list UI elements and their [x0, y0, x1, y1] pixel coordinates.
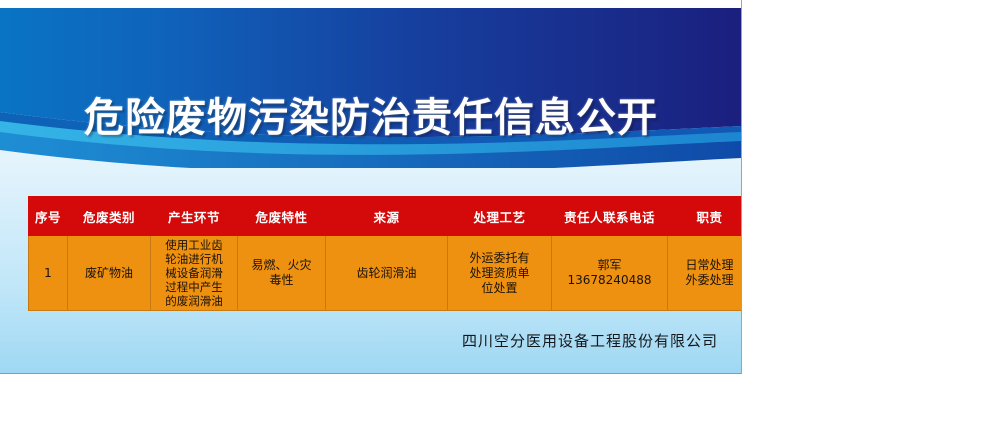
column-header-duty: 职责 — [668, 197, 743, 236]
cell-stage-line-5: 的废润滑油 — [153, 294, 235, 308]
cell-stage-line-2: 轮油进行机 — [153, 252, 235, 266]
cell-category: 废矿物油 — [68, 236, 151, 311]
column-header-category: 危废类别 — [68, 197, 151, 236]
banner-graphic — [0, 8, 742, 168]
cell-source: 齿轮润滑油 — [326, 236, 448, 311]
company-name: 四川空分医用设备工程股份有限公司 — [0, 330, 718, 351]
cell-property-line-2: 毒性 — [240, 273, 323, 288]
column-header-technology: 处理工艺 — [448, 197, 552, 236]
cell-technology-line-2: 处理资质单 — [450, 266, 549, 281]
column-header-index: 序号 — [29, 197, 68, 236]
cell-contact-phone: 13678240488 — [554, 273, 665, 288]
column-header-property: 危废特性 — [238, 197, 326, 236]
column-header-stage: 产生环节 — [151, 197, 238, 236]
cell-stage-line-4: 过程中产生 — [153, 280, 235, 294]
information-board: 危险废物污染防治责任信息公开 序号 危废类别 产生环节 危废特性 来源 处理工艺… — [0, 0, 742, 374]
cell-stage: 使用工业齿 轮油进行机 械设备润滑 过程中产生 的废润滑油 — [151, 236, 238, 311]
cell-contact: 郭军 13678240488 — [552, 236, 668, 311]
cell-technology: 外运委托有 处理资质单 位处置 — [448, 236, 552, 311]
table-body: 1 废矿物油 使用工业齿 轮油进行机 械设备润滑 过程中产生 的废润滑油 易燃、… — [29, 236, 743, 311]
hazardous-waste-table: 序号 危废类别 产生环节 危废特性 来源 处理工艺 责任人联系电话 职责 1 废… — [28, 196, 742, 311]
cell-contact-name: 郭军 — [554, 258, 665, 273]
cell-property: 易燃、火灾 毒性 — [238, 236, 326, 311]
table-row: 1 废矿物油 使用工业齿 轮油进行机 械设备润滑 过程中产生 的废润滑油 易燃、… — [29, 236, 743, 311]
cell-stage-line-1: 使用工业齿 — [153, 238, 235, 252]
cell-duty: 日常处理 外委处理 — [668, 236, 743, 311]
table-header-row: 序号 危废类别 产生环节 危废特性 来源 处理工艺 责任人联系电话 职责 — [29, 197, 743, 236]
table-header: 序号 危废类别 产生环节 危废特性 来源 处理工艺 责任人联系电话 职责 — [29, 197, 743, 236]
cell-property-line-1: 易燃、火灾 — [240, 258, 323, 273]
cell-index: 1 — [29, 236, 68, 311]
banner: 危险废物污染防治责任信息公开 — [0, 8, 742, 168]
cell-stage-line-3: 械设备润滑 — [153, 266, 235, 280]
cell-duty-line-2: 外委处理 — [670, 273, 742, 288]
cell-technology-line-1: 外运委托有 — [450, 251, 549, 266]
column-header-contact: 责任人联系电话 — [552, 197, 668, 236]
column-header-source: 来源 — [326, 197, 448, 236]
cell-duty-line-1: 日常处理 — [670, 258, 742, 273]
cell-technology-line-3: 位处置 — [450, 281, 549, 296]
